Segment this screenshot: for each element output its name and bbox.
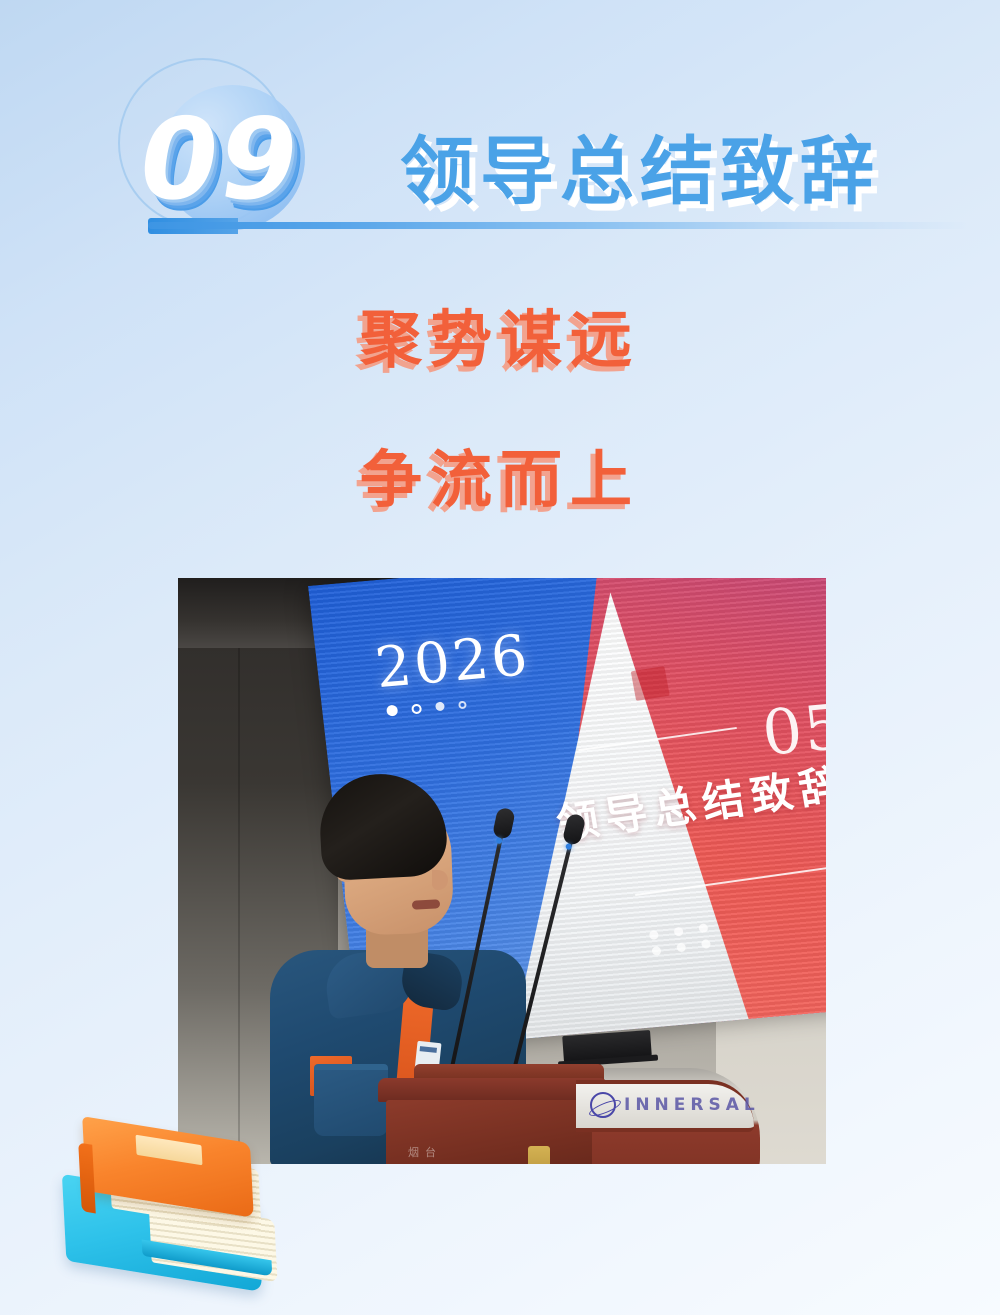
podium-name-plate: INNERSAL [576, 1080, 754, 1132]
podium: 烟台 INNERSAL [378, 1078, 728, 1164]
podium-front-panel: 烟台 [386, 1100, 592, 1164]
section-number: 09 [131, 104, 309, 216]
speaker-pocket [314, 1064, 388, 1136]
podium-brand-text: INNERSAL [624, 1095, 760, 1115]
screen-stamp-graphic [631, 666, 670, 701]
event-photo: 2026 05 领导总结致辞 [178, 578, 826, 1164]
speaker-mouth [412, 899, 440, 909]
poster-page: 09 领导总结致辞 聚势谋远 争流而上 2026 05 领导总结致辞 [0, 0, 1000, 1315]
wall-seam [238, 578, 240, 1164]
slogan-line-2: 争流而上 [0, 445, 1000, 515]
laptop-on-podium [562, 1030, 652, 1062]
podium-gold-pillar [528, 1146, 550, 1164]
slogan-line-1: 聚势谋远 [0, 305, 1000, 375]
page-title: 领导总结致辞 [400, 130, 880, 214]
stacked-books-icon [58, 1118, 308, 1308]
screen-year-text: 2026 [372, 623, 533, 701]
company-logo-icon [590, 1092, 616, 1118]
speaker-hair [317, 771, 448, 881]
section-number-text: 09 [131, 104, 309, 216]
poster-header: 09 领导总结致辞 [0, 0, 1000, 270]
podium-front-text: 烟台 [408, 1144, 442, 1160]
podium-top [378, 1078, 608, 1102]
